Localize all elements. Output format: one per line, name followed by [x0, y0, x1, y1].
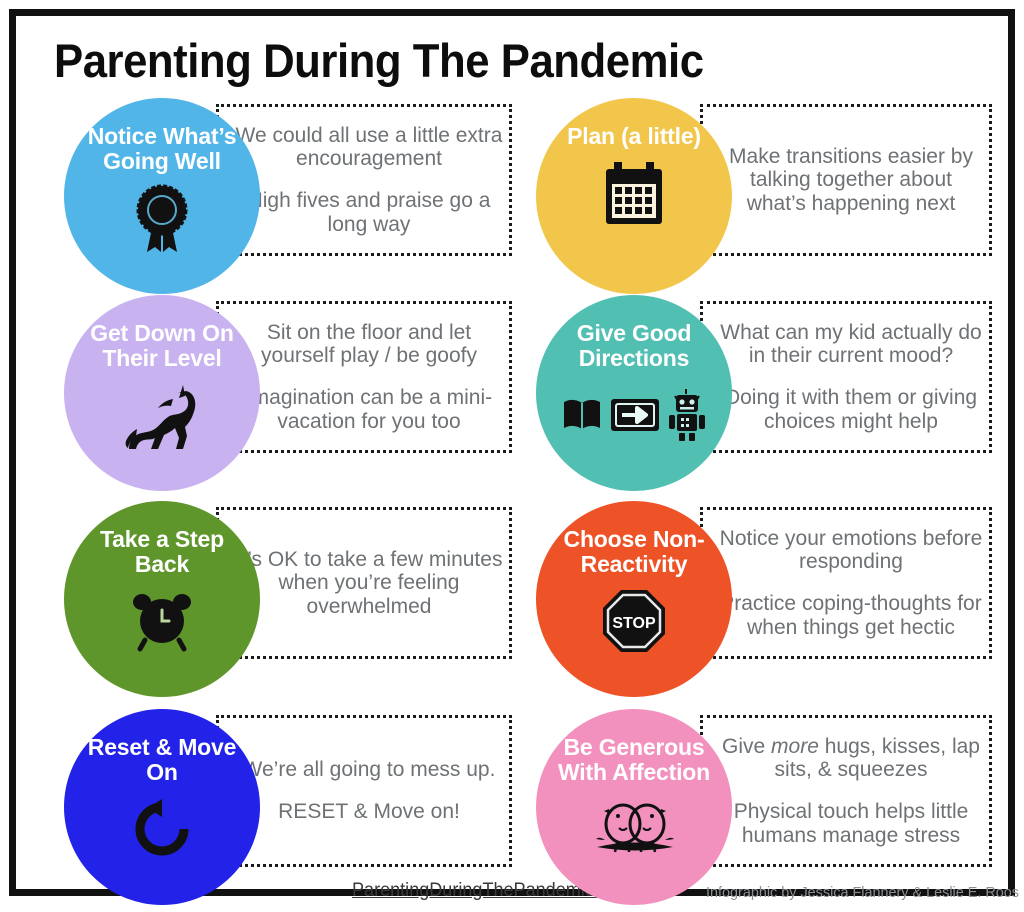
tip-line: We’re all going to mess up. [243, 758, 496, 782]
tip-text-box: Make transitions easier by talking toget… [700, 104, 992, 256]
tip-text-box: It’s OK to take a few minutes when you’r… [216, 507, 512, 659]
tip-title: Reset & Move On [64, 735, 260, 785]
tip-circle: Be Generous With Affection [536, 709, 732, 905]
tip-text-box: Give more hugs, kisses, lap sits, & sque… [700, 715, 992, 867]
award-ribbon-icon [134, 181, 190, 255]
page-title: Parenting During The Pandemic [54, 33, 704, 88]
tip-circle: Notice What’s Going Well [64, 98, 260, 294]
robot-icon [667, 388, 707, 442]
unicorn-icon [121, 378, 203, 452]
tip-circle: Take a Step Back [64, 501, 260, 697]
tip-title: Get Down On Their Level [64, 321, 260, 371]
tip-circle: Give Good Directions [536, 295, 732, 491]
arrow-sign-icon [609, 395, 661, 435]
tip-title: Be Generous With Affection [536, 735, 732, 785]
tip-title: Notice What’s Going Well [64, 124, 260, 174]
tip-line: Make transitions easier by talking toget… [719, 145, 983, 216]
tip-line: We could all use a little extra encourag… [235, 124, 503, 171]
tip-text-box: Notice your emotions before responding P… [700, 507, 992, 659]
tip-text-box: Sit on the floor and let yourself play /… [216, 301, 512, 453]
tip-title: Choose Non-Reactivity [536, 527, 732, 577]
tip-card-give-good-directions: What can my kid actually do in their cur… [514, 295, 994, 491]
stop-sign-icon: STOP [601, 584, 667, 658]
tip-line: High fives and praise go a long way [235, 189, 503, 236]
tips-grid: We could all use a little extra encourag… [16, 92, 1008, 882]
tip-circle: Reset & Move On [64, 709, 260, 905]
two-birds-icon [591, 792, 677, 866]
tip-line: What can my kid actually do in their cur… [719, 321, 983, 368]
tip-card-choose-non-reactivity: Notice your emotions before responding P… [514, 501, 994, 697]
tip-line: RESET & Move on! [278, 800, 460, 824]
tip-line: Sit on the floor and let yourself play /… [235, 321, 503, 368]
calendar-icon [603, 156, 665, 230]
tip-card-notice-whats-going-well: We could all use a little extra encourag… [38, 98, 518, 294]
tip-circle: Choose Non-Reactivity STOP [536, 501, 732, 697]
tip-card-plan-a-little: Make transitions easier by talking toget… [514, 98, 994, 294]
tip-text-box: What can my kid actually do in their cur… [700, 301, 992, 453]
tip-title: Take a Step Back [64, 527, 260, 577]
infographic-frame: Parenting During The Pandemic We could a… [9, 9, 1015, 896]
tip-title: Give Good Directions [536, 321, 732, 371]
tip-line: Practice coping-thoughts for when things… [719, 592, 983, 639]
tip-card-be-generous-with-affection: Give more hugs, kisses, lap sits, & sque… [514, 709, 994, 905]
tip-text-box: We could all use a little extra encourag… [216, 104, 512, 256]
tip-circle: Plan (a little) [536, 98, 732, 294]
credit-text: Infographic by Jessica Flannery & Leslie… [706, 884, 1019, 901]
tip-line: Give more hugs, kisses, lap sits, & sque… [719, 735, 983, 782]
tip-card-take-a-step-back: It’s OK to take a few minutes when you’r… [38, 501, 518, 697]
tip-circle: Get Down On Their Level [64, 295, 260, 491]
tip-card-reset-and-move-on: We’re all going to mess up. RESET & Move… [38, 709, 518, 905]
tip-text-box: We’re all going to mess up. RESET & Move… [216, 715, 512, 867]
book-icon [561, 394, 603, 436]
tip-line: Physical touch helps little humans manag… [719, 800, 983, 847]
book-arrow-robot-icons [561, 378, 707, 452]
tip-card-get-down-on-their-level: Sit on the floor and let yourself play /… [38, 295, 518, 491]
stop-label: STOP [612, 615, 656, 632]
tip-line: Imagination can be a mini-vacation for y… [235, 386, 503, 433]
tip-line: Doing it with them or giving choices mig… [719, 386, 983, 433]
tip-line: It’s OK to take a few minutes when you’r… [235, 548, 503, 619]
reset-arrow-icon [131, 792, 193, 866]
alarm-clock-icon [129, 584, 195, 658]
tip-title: Plan (a little) [559, 124, 709, 149]
tip-line: Notice your emotions before responding [719, 527, 983, 574]
